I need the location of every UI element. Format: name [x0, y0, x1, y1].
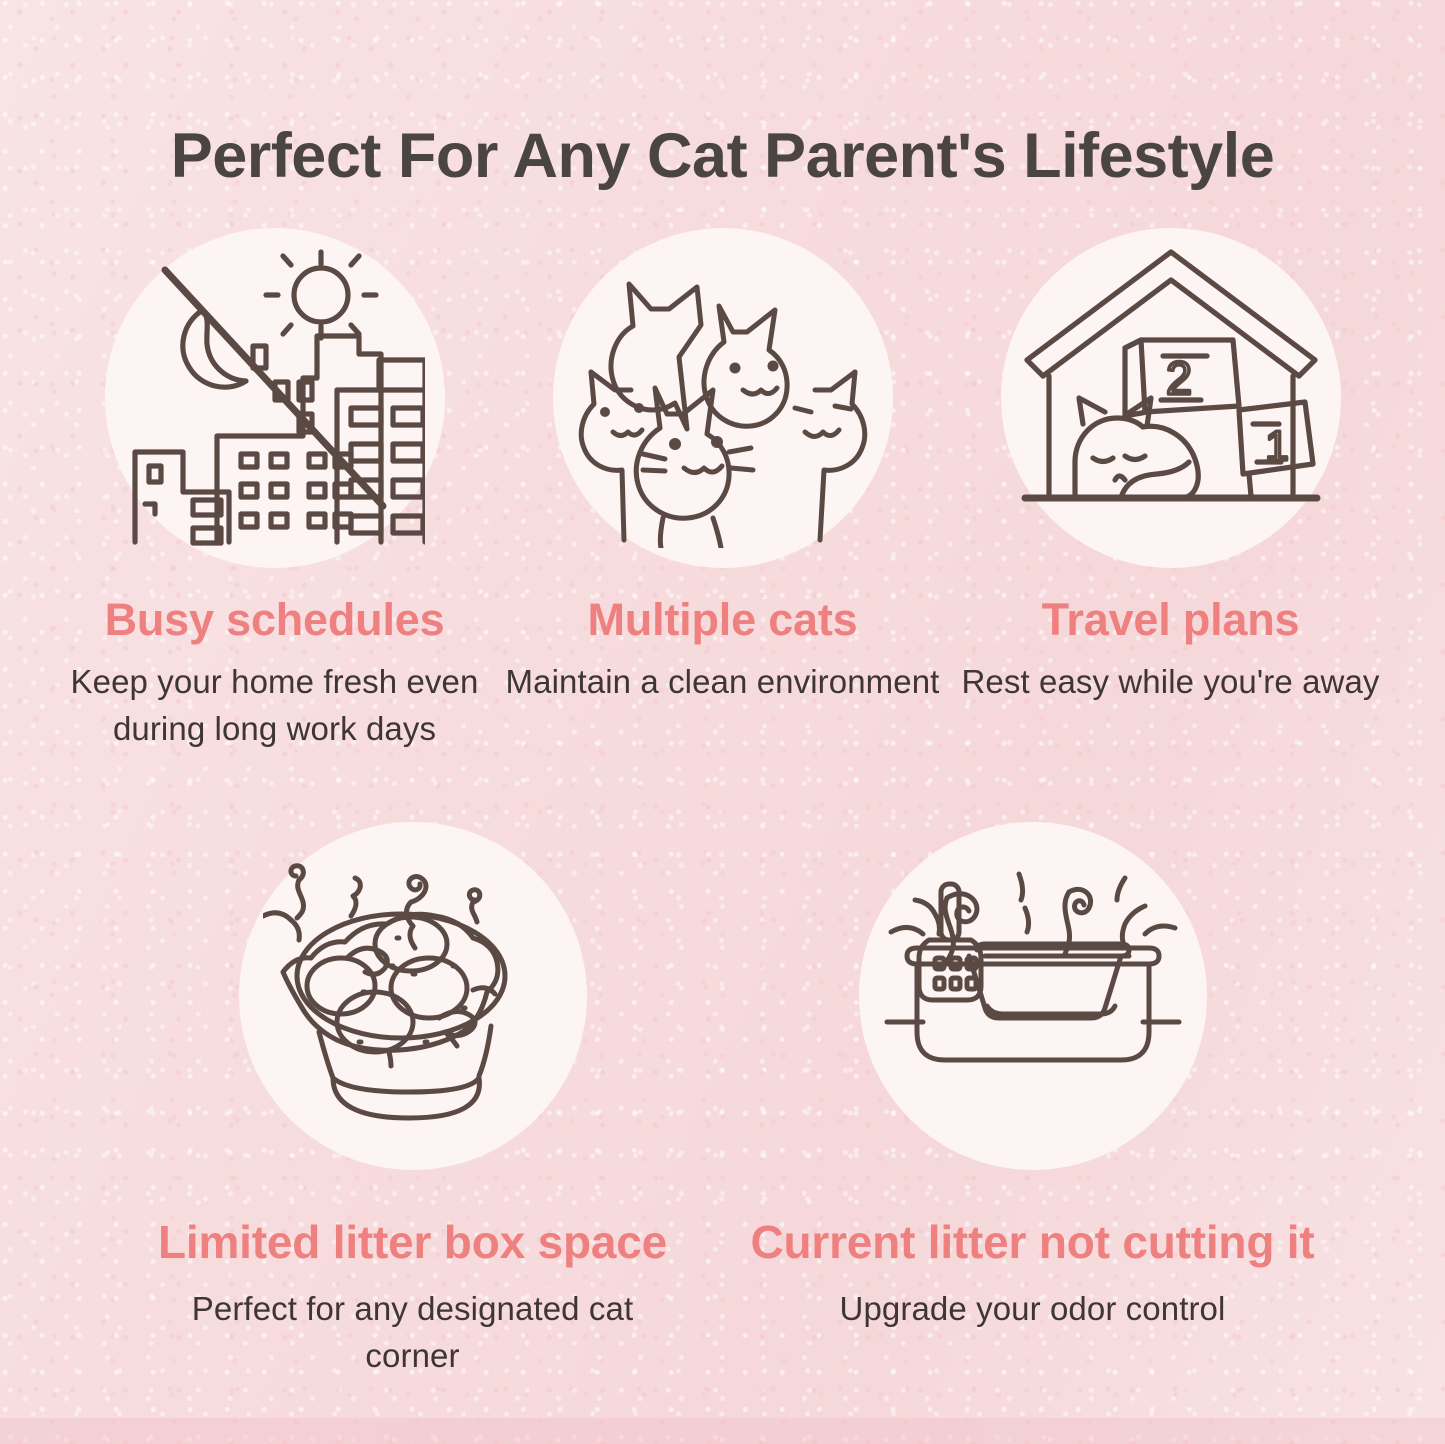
litter-box-scoop-icon — [859, 822, 1207, 1170]
calendar-digit-1: 1 — [1265, 422, 1288, 469]
calendar-digit-2: 2 — [1166, 352, 1192, 404]
card-body: Rest easy while you're away — [961, 659, 1379, 706]
card-heading: Travel plans — [1042, 596, 1300, 643]
card-heading: Multiple cats — [588, 596, 858, 643]
feature-row-bottom: Limited litter box space Perfect for any… — [0, 822, 1445, 1380]
page-title: Perfect For Any Cat Parent's Lifestyle — [0, 120, 1445, 192]
card-body: Keep your home fresh even during long wo… — [55, 659, 495, 753]
card-heading: Current litter not cutting it — [750, 1218, 1314, 1266]
day-night-cityscape-icon — [105, 228, 445, 568]
card-body: Maintain a clean environment — [506, 659, 940, 706]
card-body: Upgrade your odor control — [840, 1286, 1226, 1333]
bottom-edge-band — [0, 1418, 1445, 1444]
feature-card-busy-schedules: Busy schedules Keep your home fresh even… — [51, 228, 499, 753]
card-heading: Busy schedules — [105, 596, 445, 643]
feature-card-limited-space: Limited litter box space Perfect for any… — [103, 822, 723, 1380]
feature-card-travel-plans: 2 1 Travel plans Rest easy while you're … — [947, 228, 1395, 753]
card-body: Perfect for any designated cat corner — [178, 1286, 648, 1380]
feature-card-current-litter: Current litter not cutting it Upgrade yo… — [723, 822, 1343, 1380]
feature-row-top: Busy schedules Keep your home fresh even… — [0, 228, 1445, 753]
litter-waste-bin-icon — [239, 822, 587, 1170]
card-heading: Limited litter box space — [158, 1218, 667, 1266]
multiple-cats-icon — [553, 228, 893, 568]
feature-card-multiple-cats: Multiple cats Maintain a clean environme… — [499, 228, 947, 753]
house-cat-calendar-icon: 2 1 — [1001, 228, 1341, 568]
